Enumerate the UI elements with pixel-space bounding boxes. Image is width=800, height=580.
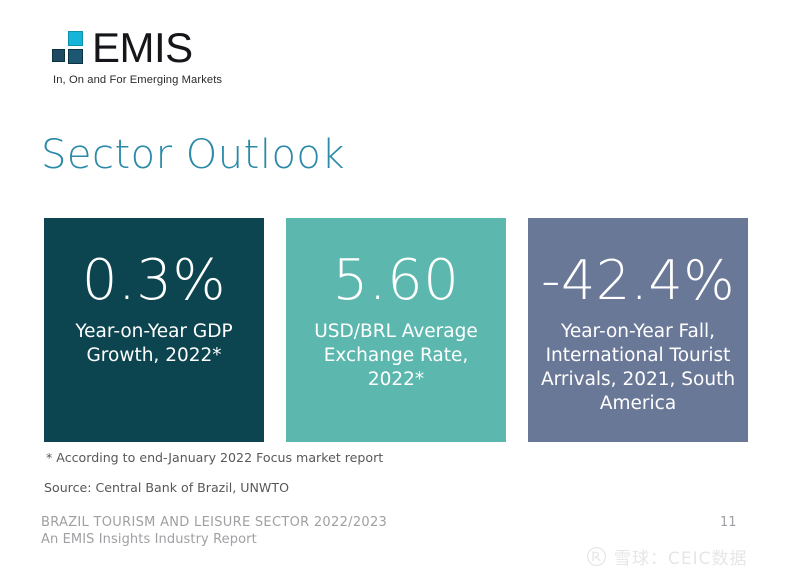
stat-card-usd-brl-rate: 5.60 USD/BRL Average Exchange Rate, 2022… bbox=[286, 218, 506, 442]
stat-card-value: 0.3% bbox=[82, 250, 226, 312]
stat-card-value: -42.4% bbox=[541, 250, 735, 312]
emis-wordmark: EMIS bbox=[92, 26, 193, 70]
page-title: Sector Outlook bbox=[41, 132, 345, 178]
stat-card-gdp-growth: 0.3% Year-on-Year GDP Growth, 2022* bbox=[44, 218, 264, 442]
stat-card-tourist-arrivals-fall: -42.4% Year-on-Year Fall, International … bbox=[528, 218, 748, 442]
logo-square-top bbox=[68, 31, 83, 46]
watermark: 雪球：CEIC数据 bbox=[586, 544, 748, 569]
footnote-asterisk: * According to end-January 2022 Focus ma… bbox=[46, 450, 383, 465]
logo-square-bottom bbox=[68, 49, 83, 64]
footer-report-subtitle: An EMIS Insights Industry Report bbox=[41, 531, 387, 548]
footer-report-title: BRAZIL TOURISM AND LEISURE SECTOR 2022/2… bbox=[41, 514, 387, 531]
stat-card-label: Year-on-Year GDP Growth, 2022* bbox=[44, 320, 264, 368]
emis-logo: EMIS In, On and For Emerging Markets bbox=[52, 26, 252, 88]
stat-card-group: 0.3% Year-on-Year GDP Growth, 2022* 5.60… bbox=[44, 218, 748, 442]
logo-square-small bbox=[52, 49, 65, 62]
footer-report-info: BRAZIL TOURISM AND LEISURE SECTOR 2022/2… bbox=[41, 514, 387, 548]
xueqiu-circle-icon bbox=[586, 546, 607, 567]
footnote-source: Source: Central Bank of Brazil, UNWTO bbox=[44, 480, 289, 495]
stat-card-value: 5.60 bbox=[333, 250, 460, 312]
stat-card-label: USD/BRL Average Exchange Rate, 2022* bbox=[286, 320, 506, 392]
watermark-text: 雪球：CEIC数据 bbox=[614, 544, 748, 569]
emis-tagline: In, On and For Emerging Markets bbox=[53, 74, 222, 86]
page-number: 11 bbox=[720, 515, 737, 530]
emis-logo-mark-icon bbox=[52, 30, 92, 64]
stat-card-label: Year-on-Year Fall, International Tourist… bbox=[528, 320, 748, 416]
